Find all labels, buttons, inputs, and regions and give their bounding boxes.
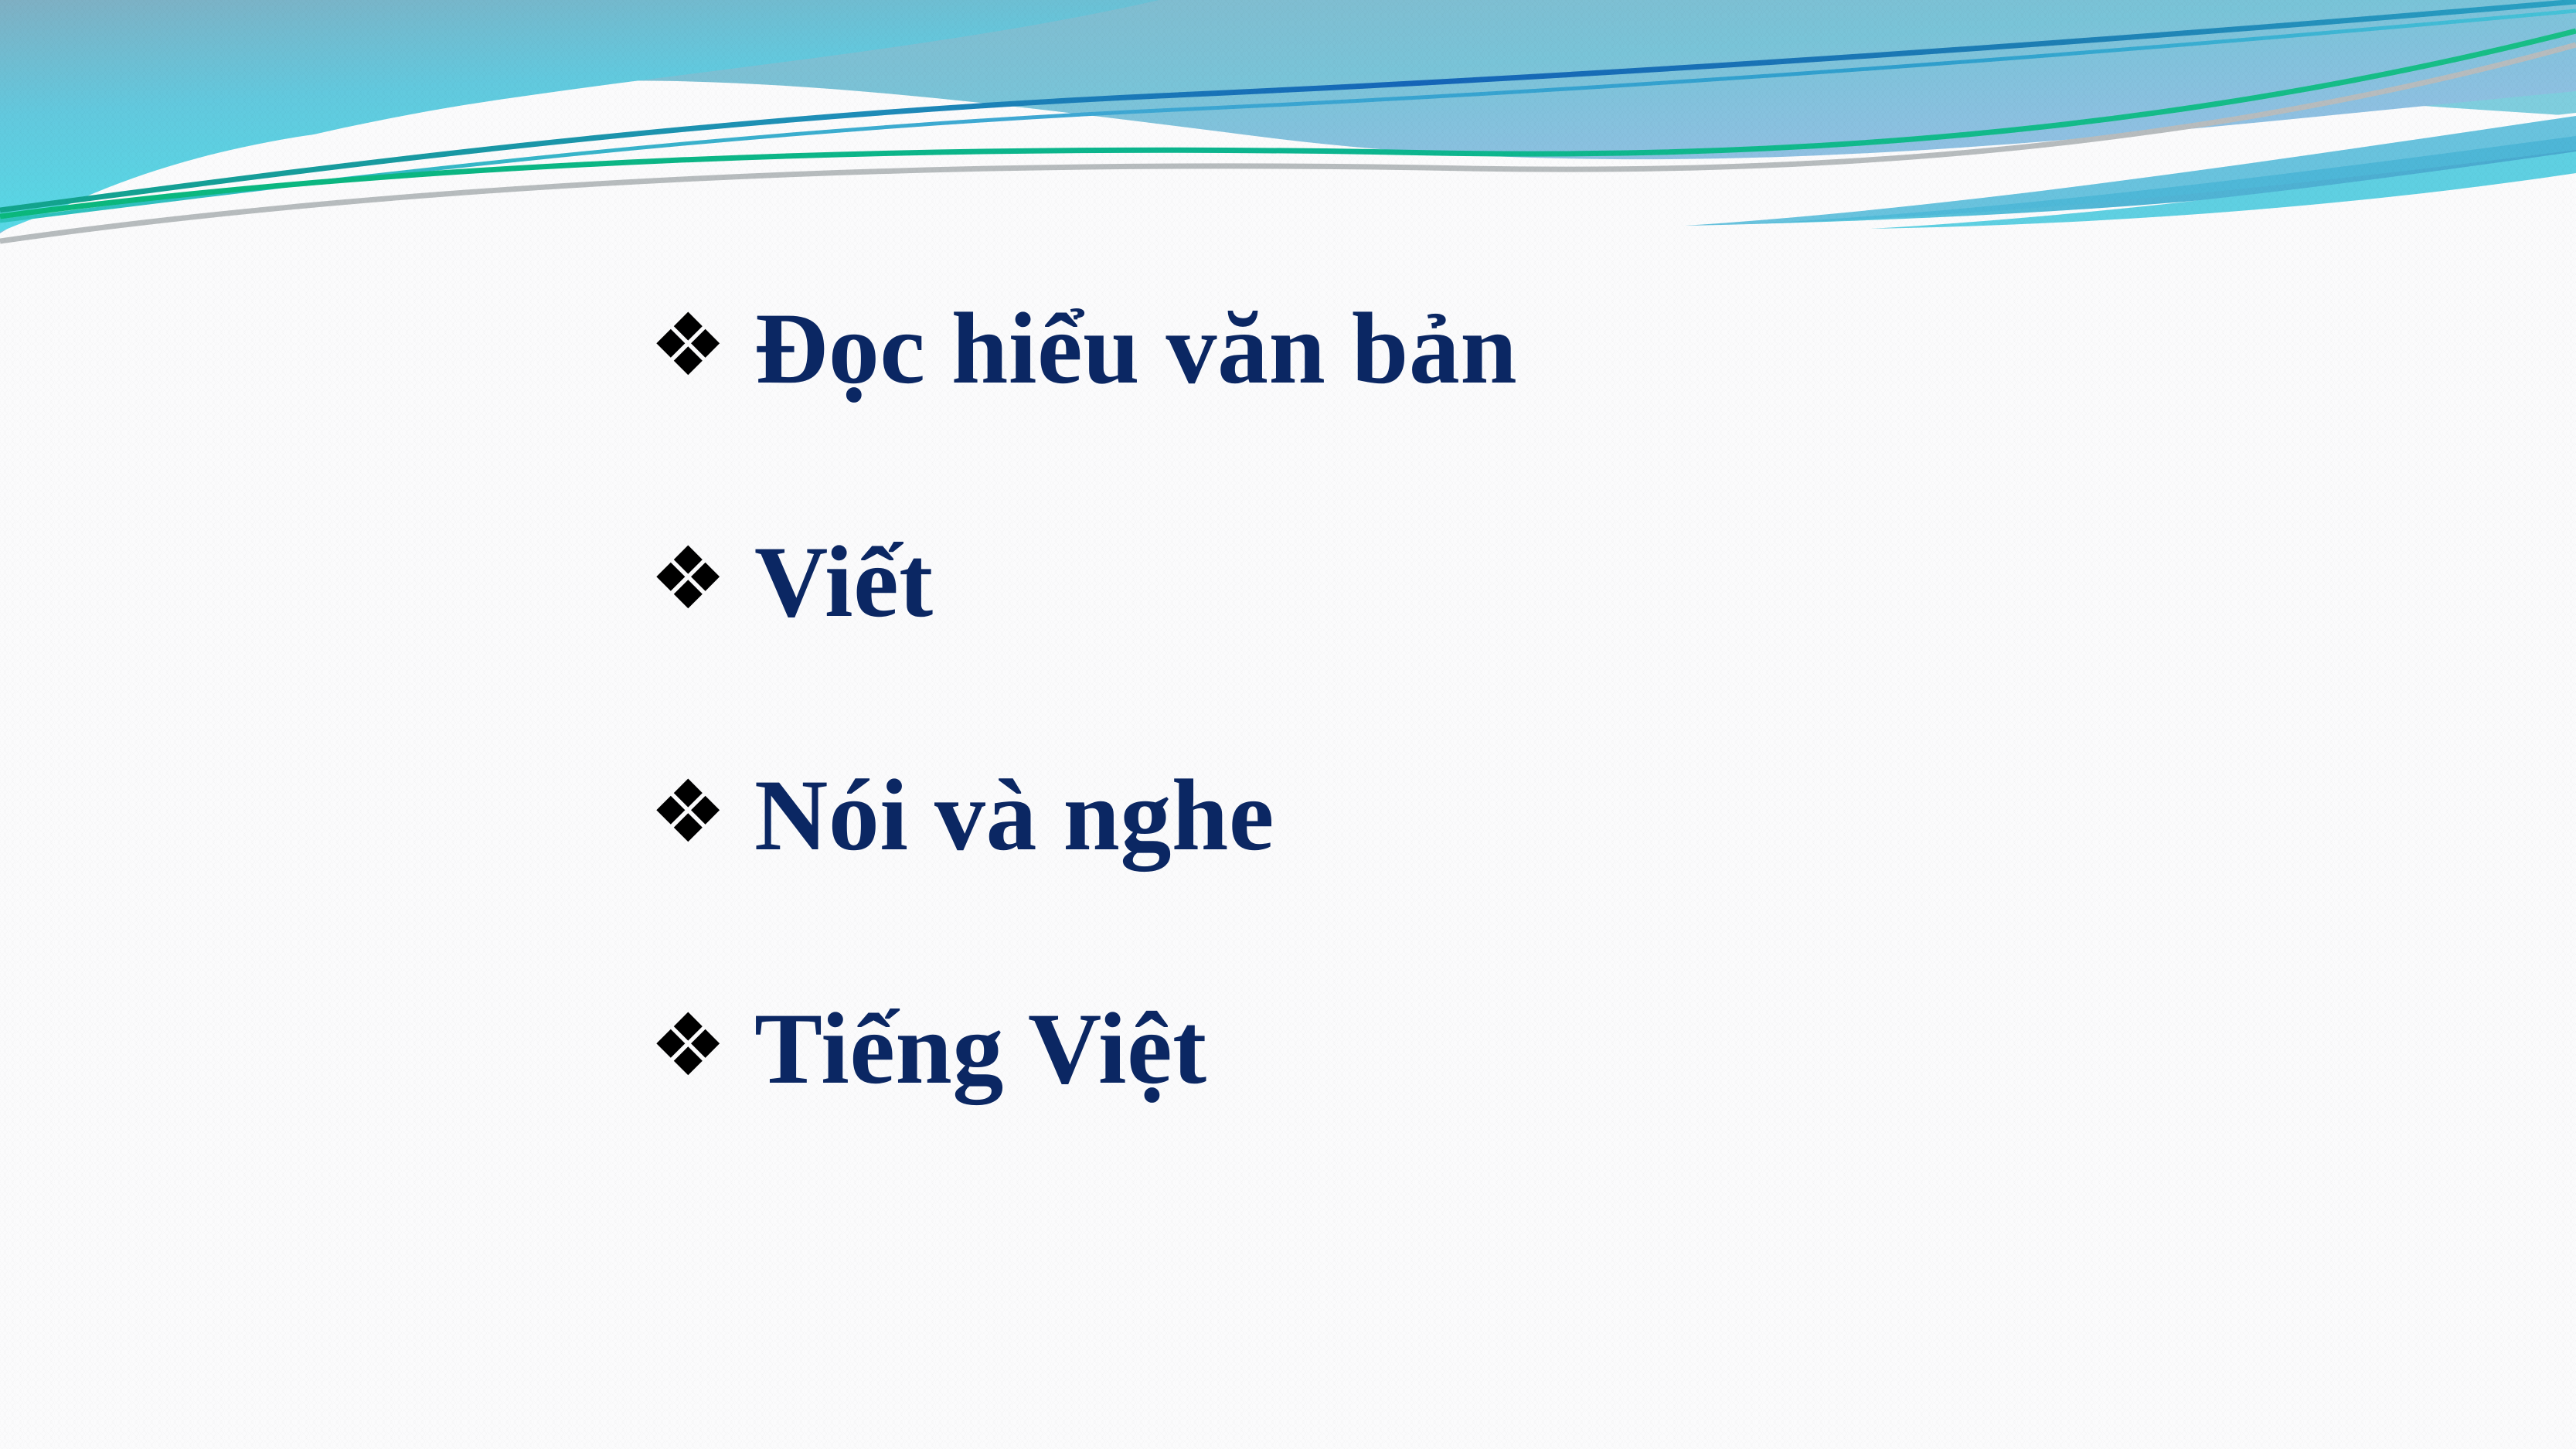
four-diamond-bullet-icon: ❖ xyxy=(649,302,754,389)
bullet-list: ❖ Đọc hiểu văn bản ❖ Viết ❖ Nói và nghe … xyxy=(0,232,2576,1165)
list-item[interactable]: ❖ Viết xyxy=(0,465,2576,699)
presentation-slide: ❖ Đọc hiểu văn bản ❖ Viết ❖ Nói và nghe … xyxy=(0,0,2576,1449)
bullet-label: Nói và nghe xyxy=(754,762,1274,869)
bullet-label: Tiếng Việt xyxy=(754,995,1207,1103)
list-item[interactable]: ❖ Tiếng Việt xyxy=(0,932,2576,1165)
four-diamond-bullet-icon: ❖ xyxy=(649,536,754,622)
bullet-label: Viết xyxy=(754,529,934,636)
four-diamond-bullet-icon: ❖ xyxy=(649,769,754,855)
list-item[interactable]: ❖ Đọc hiểu văn bản xyxy=(0,232,2576,465)
list-item[interactable]: ❖ Nói và nghe xyxy=(0,699,2576,932)
four-diamond-bullet-icon: ❖ xyxy=(649,1002,754,1089)
header-wave-decoration xyxy=(0,0,2576,255)
bullet-label: Đọc hiểu văn bản xyxy=(754,295,1517,403)
